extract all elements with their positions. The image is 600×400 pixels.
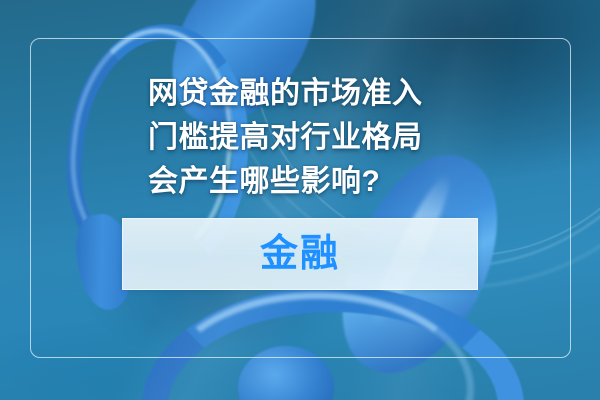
category-tag-band[interactable]: 金融 xyxy=(122,218,478,290)
headline-line-2: 门槛提高对行业格局 xyxy=(148,116,478,160)
headline-block: 网贷金融的市场准入 门槛提高对行业格局 会产生哪些影响? xyxy=(148,72,478,204)
category-tag-label: 金融 xyxy=(260,235,340,273)
headline-line-3: 会产生哪些影响? xyxy=(148,160,478,204)
article-thumbnail-banner: 网贷金融的市场准入 门槛提高对行业格局 会产生哪些影响? 金融 xyxy=(0,0,600,400)
headline-line-1: 网贷金融的市场准入 xyxy=(148,72,478,116)
